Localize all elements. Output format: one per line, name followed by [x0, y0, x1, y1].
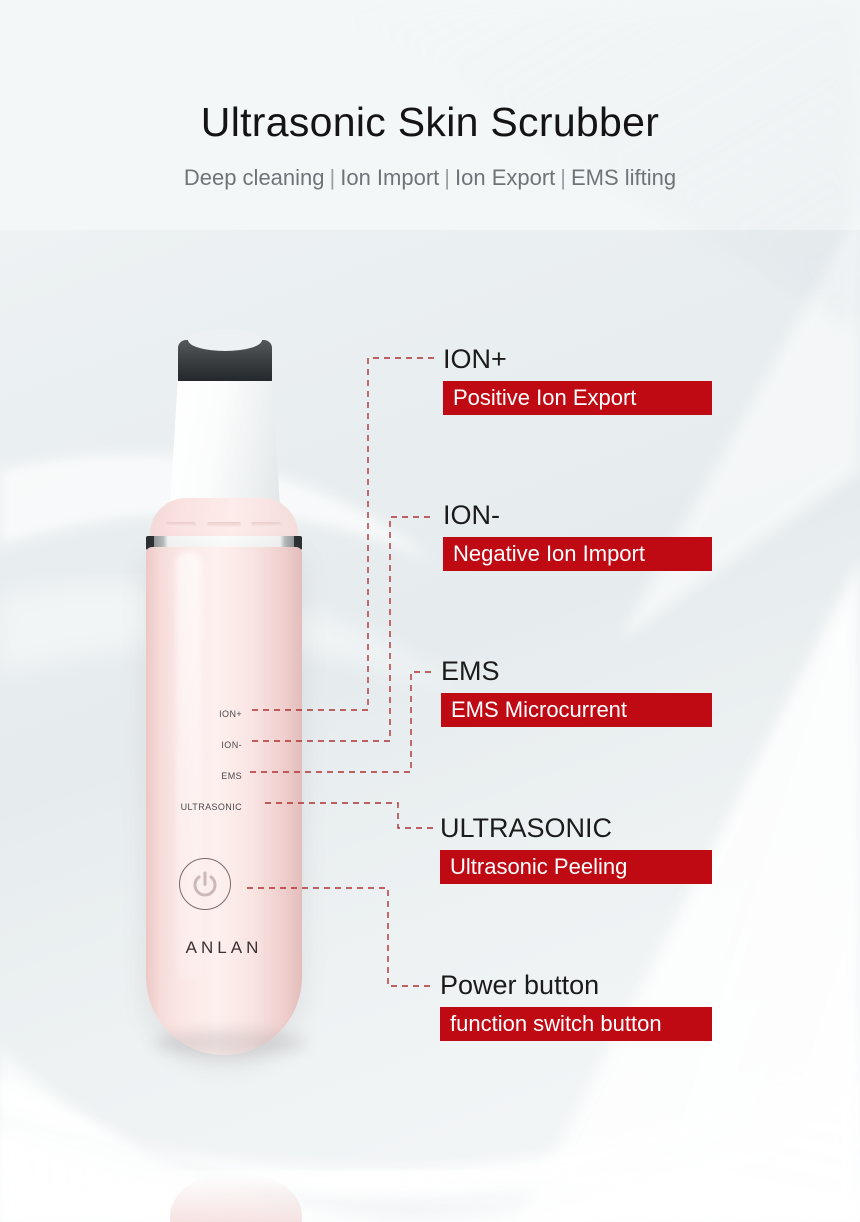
callout-ems: EMS EMS Microcurrent: [441, 655, 712, 727]
device-ridge: [207, 522, 241, 527]
callout-power-button: Power button function switch button: [440, 969, 712, 1041]
subtitle-separator-1: |: [439, 165, 455, 190]
subtitle-separator-0: |: [325, 165, 341, 190]
device-base-shading: [170, 1175, 302, 1222]
device-spatula-blade: [170, 381, 280, 507]
device-printed-label-ems: EMS: [174, 771, 242, 781]
device-printed-label-ion-minus: ION-: [174, 740, 242, 750]
callout-ion-plus: ION+ Positive Ion Export: [443, 343, 712, 415]
header: Ultrasonic Skin Scrubber Deep cleaning|I…: [0, 96, 860, 192]
product-device-image: ION+ ION- EMS ULTRASONIC ANLAN: [134, 340, 344, 1060]
subtitle-part-0: Deep cleaning: [184, 165, 325, 190]
callout-banner: Negative Ion Import: [443, 537, 712, 571]
callout-title: ULTRASONIC: [440, 812, 712, 844]
page-title: Ultrasonic Skin Scrubber: [0, 96, 860, 148]
device-power-button[interactable]: [179, 858, 231, 910]
device-printed-label-ion-plus: ION+: [174, 709, 242, 719]
callout-title: Power button: [440, 969, 712, 1001]
power-icon: [190, 869, 220, 899]
product-infographic: Ultrasonic Skin Scrubber Deep cleaning|I…: [0, 0, 860, 1222]
brand-logo: ANLAN: [134, 938, 314, 958]
callout-ultrasonic: ULTRASONIC Ultrasonic Peeling: [440, 812, 712, 884]
device-collar: [150, 498, 298, 540]
callout-title: ION-: [443, 499, 712, 531]
device-drop-shadow: [154, 1030, 306, 1056]
callout-title: ION+: [443, 343, 712, 375]
device-ridge: [251, 522, 281, 527]
device-handle-body: [146, 547, 302, 1055]
callout-banner: Ultrasonic Peeling: [440, 850, 712, 884]
subtitle-part-2: Ion Export: [455, 165, 555, 190]
device-scrubber-tip: [178, 340, 272, 382]
subtitle-part-1: Ion Import: [340, 165, 439, 190]
page-subtitle: Deep cleaning|Ion Import|Ion Export|EMS …: [0, 164, 860, 192]
subtitle-part-3: EMS lifting: [571, 165, 676, 190]
device-printed-label-ultrasonic: ULTRASONIC: [154, 802, 242, 812]
device-ridge: [166, 522, 196, 527]
callout-banner: Positive Ion Export: [443, 381, 712, 415]
subtitle-separator-2: |: [555, 165, 571, 190]
callout-title: EMS: [441, 655, 712, 687]
device-gloss-highlight: [176, 551, 202, 981]
callout-banner: function switch button: [440, 1007, 712, 1041]
callout-ion-minus: ION- Negative Ion Import: [443, 499, 712, 571]
callout-banner: EMS Microcurrent: [441, 693, 712, 727]
